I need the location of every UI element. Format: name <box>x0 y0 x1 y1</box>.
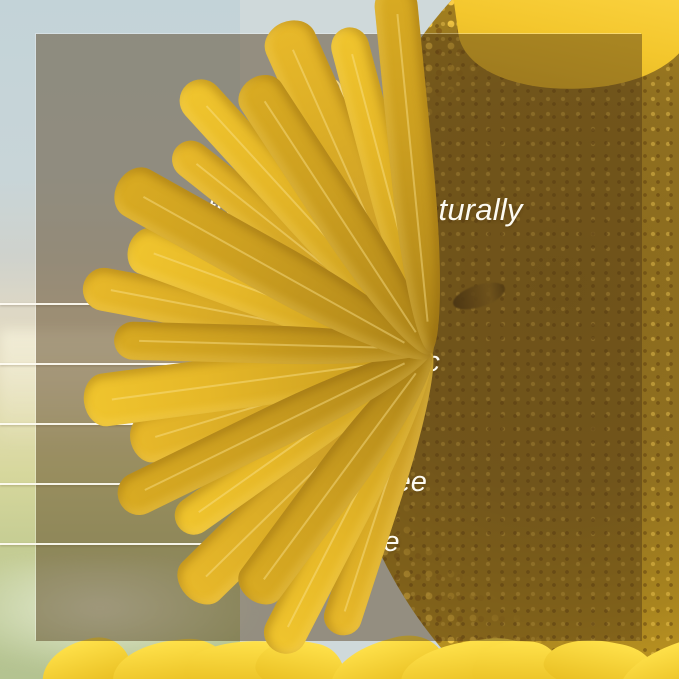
poster-canvas: Waxelene® Nurture your skin naturally Pe… <box>0 0 679 679</box>
benefit-connector-line <box>0 543 224 545</box>
